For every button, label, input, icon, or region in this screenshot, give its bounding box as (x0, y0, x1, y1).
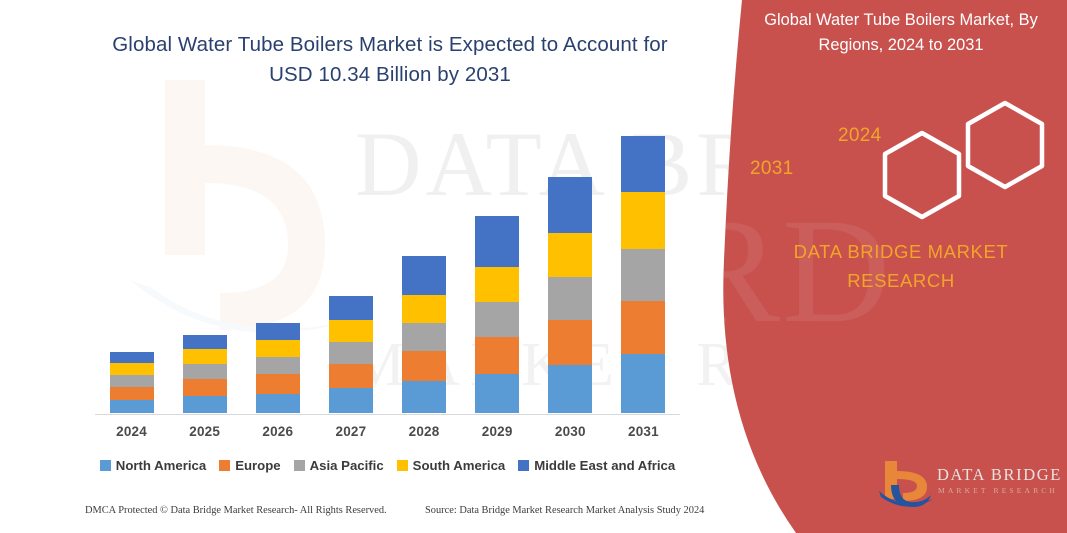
bar-segment (621, 249, 665, 301)
bar-segment (110, 375, 154, 387)
hexagon-2024-shape (968, 103, 1042, 187)
bar-segment (329, 296, 373, 320)
legend-label: Asia Pacific (310, 458, 384, 473)
bar-column (621, 136, 665, 413)
bar-segment (329, 320, 373, 342)
x-axis-tick-label: 2028 (389, 424, 459, 439)
bar-segment (402, 323, 446, 351)
dbmr-logo-icon (875, 455, 1065, 515)
bar-segment (548, 177, 592, 233)
legend-label: South America (413, 458, 506, 473)
x-axis-tick-label: 2024 (97, 424, 167, 439)
bar-segment (621, 136, 665, 192)
bar-segment (402, 295, 446, 323)
hexagon-2031-label: 2031 (750, 158, 793, 180)
bar-segment (475, 374, 519, 413)
bar-segment (621, 301, 665, 354)
bar-segment (475, 337, 519, 374)
x-axis-tick-label: 2025 (170, 424, 240, 439)
bar-segment (621, 354, 665, 413)
legend-item[interactable]: Europe (219, 458, 280, 473)
legend-swatch-icon (100, 460, 111, 471)
bar-segment (402, 381, 446, 413)
footer: DMCA Protected © Data Bridge Market Rese… (0, 505, 760, 527)
bar-segment (548, 320, 592, 365)
x-axis-tick-label: 2029 (462, 424, 532, 439)
bar-segment (548, 277, 592, 320)
bar-segment (110, 387, 154, 400)
page-title: Global Water Tube Boilers Market is Expe… (110, 30, 670, 89)
bar-segment (110, 352, 154, 363)
plot-area (95, 110, 680, 415)
bar-segment (475, 302, 519, 337)
brand-name-line2: RESEARCH (847, 270, 955, 291)
bar-segment (183, 396, 227, 413)
bar-segment (475, 267, 519, 302)
bar-segment (329, 342, 373, 364)
dbmr-logo: DATA BRIDGE MARKET RESEARCH (875, 455, 1065, 515)
legend-item[interactable]: Middle East and Africa (518, 458, 675, 473)
bar-segment (256, 340, 300, 357)
bar-segment (402, 351, 446, 381)
legend-swatch-icon (397, 460, 408, 471)
bar-segment (183, 349, 227, 364)
bar-segment (256, 394, 300, 413)
bar-segment (110, 400, 154, 413)
bar-segment (402, 256, 446, 295)
bar-segment (548, 233, 592, 277)
bar-column (329, 296, 373, 413)
bar-column (256, 323, 300, 413)
brand-name: DATA BRIDGE MARKET RESEARCH (745, 238, 1057, 295)
chart-panel: DATA BRIDGE MARKET RESEARCH Global Water… (0, 0, 760, 533)
bar-segment (110, 363, 154, 375)
x-axis-tick-label: 2031 (608, 424, 678, 439)
x-axis-line (95, 414, 680, 415)
chart-legend: North AmericaEuropeAsia PacificSouth Ame… (95, 455, 680, 475)
bar-segment (183, 379, 227, 396)
x-axis-tick-label: 2026 (243, 424, 313, 439)
hexagon-pair-graphic (810, 95, 1060, 225)
bar-segment (621, 192, 665, 249)
bar-segment (256, 357, 300, 374)
x-axis-labels: 20242025202620272028202920302031 (95, 424, 680, 446)
panel-title: Global Water Tube Boilers Market, By Reg… (745, 8, 1057, 57)
legend-label: Europe (235, 458, 280, 473)
dbmr-logo-main-text: DATA BRIDGE (937, 465, 1062, 485)
x-axis-tick-label: 2027 (316, 424, 386, 439)
bar-segment (329, 364, 373, 388)
bar-column (402, 256, 446, 413)
legend-swatch-icon (518, 460, 529, 471)
legend-item[interactable]: North America (100, 458, 206, 473)
bar-segment (256, 374, 300, 393)
dbmr-logo-sub-text: MARKET RESEARCH (938, 486, 1058, 495)
legend-item[interactable]: Asia Pacific (294, 458, 384, 473)
legend-swatch-icon (294, 460, 305, 471)
bar-column (183, 335, 227, 413)
footer-source: Source: Data Bridge Market Research Mark… (425, 505, 704, 516)
bar-segment (256, 323, 300, 340)
bar-segment (183, 335, 227, 349)
bar-column (475, 216, 519, 413)
bar-segment (548, 365, 592, 413)
hexagon-2031-shape (885, 133, 959, 217)
bar-segment (475, 216, 519, 267)
footer-copyright: DMCA Protected © Data Bridge Market Rese… (85, 505, 387, 516)
bar-segment (183, 364, 227, 380)
bar-segment (329, 388, 373, 413)
legend-swatch-icon (219, 460, 230, 471)
hexagon-2024-label: 2024 (838, 125, 881, 147)
legend-label: North America (116, 458, 206, 473)
bar-column (110, 352, 154, 413)
brand-name-line1: DATA BRIDGE MARKET (794, 241, 1009, 262)
branding-panel: RD Global Water Tube Boilers Market, By … (690, 0, 1067, 533)
legend-label: Middle East and Africa (534, 458, 675, 473)
bar-column (548, 177, 592, 413)
x-axis-tick-label: 2030 (535, 424, 605, 439)
legend-item[interactable]: South America (397, 458, 506, 473)
infographic-root: DATA BRIDGE MARKET RESEARCH Global Water… (0, 0, 1067, 533)
